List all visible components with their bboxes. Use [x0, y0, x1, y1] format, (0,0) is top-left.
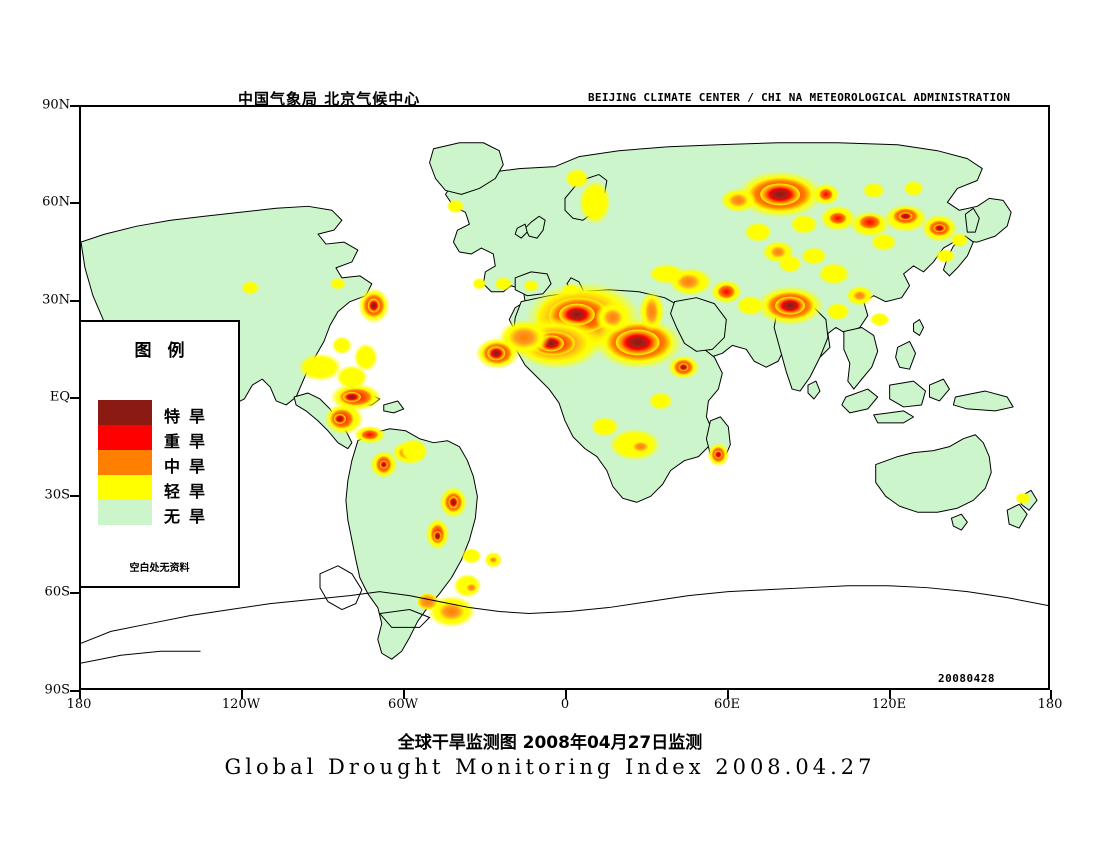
chart-title-english: Global Drought Monitoring Index 2008.04.… [0, 755, 1100, 779]
y-tick-mark-6 [70, 690, 79, 692]
drought-region-canadian-prairies [358, 288, 390, 324]
x-tick-mark-5 [889, 690, 891, 699]
legend-row-moderate: 中旱 [98, 450, 226, 475]
legend-label-light: 轻旱 [164, 478, 214, 502]
agency-header-english: BEIJING CLIMATE CENTER / CHI NA METEOROL… [588, 91, 1010, 104]
y-tick-mark-3 [70, 397, 79, 399]
y-tick-mark-2 [70, 300, 79, 302]
y-tick-label-3: EQ [50, 390, 70, 405]
legend-label-none: 无旱 [164, 503, 214, 527]
x-tick-mark-6 [1050, 690, 1052, 699]
y-tick-label-5: 60S [45, 585, 70, 600]
legend-row-severe: 重旱 [98, 425, 226, 450]
drought-region-horn-of-africa [668, 355, 700, 379]
legend-swatch-severe [98, 425, 152, 450]
legend-swatch-moderate [98, 450, 152, 475]
drought-region-nile-valley [639, 292, 665, 332]
chart-title-chinese: 全球干旱监测图 2008年04月27日监测 [0, 728, 1100, 753]
y-tick-label-0: 90N [42, 98, 70, 113]
x-tick-label-5: 120E [872, 697, 906, 712]
legend-no-data-note: 空白处无资料 [81, 559, 238, 574]
drought-region-madagascar [707, 443, 729, 467]
legend-title: 图例 [81, 336, 238, 361]
legend-label-moderate: 中旱 [164, 453, 214, 477]
y-tick-label-2: 30N [42, 293, 70, 308]
x-tick-mark-4 [727, 690, 729, 699]
x-tick-label-1: 120W [222, 697, 260, 712]
y-tick-label-4: 30S [45, 488, 70, 503]
x-tick-mark-1 [241, 690, 243, 699]
legend-row-none: 无旱 [98, 500, 226, 525]
drought-region-nw-india-pakistan [756, 286, 824, 326]
y-tick-mark-1 [70, 202, 79, 204]
x-tick-mark-3 [565, 690, 567, 699]
y-tick-mark-5 [70, 592, 79, 594]
y-tick-mark-4 [70, 495, 79, 497]
drought-region-peru-andes [426, 518, 450, 550]
y-tick-label-1: 60N [42, 195, 70, 210]
x-tick-label-6: 180 [1038, 697, 1063, 712]
legend-swatch-extreme [98, 400, 152, 425]
legend-swatch-light [98, 475, 152, 500]
drought-region-amazon-north [440, 486, 468, 518]
drought-region-west-africa [475, 337, 519, 369]
date-stamp: 20080428 [938, 672, 995, 685]
legend-swatch-none [98, 500, 152, 525]
x-tick-label-3: 0 [561, 697, 569, 712]
map-legend: 图例 特旱 重旱 中旱 轻旱 无旱 空白处无资料 [79, 320, 240, 588]
x-tick-label-0: 180 [67, 697, 92, 712]
y-tick-label-6: 90S [45, 683, 70, 698]
drought-map-page: 中国气象局 北京气候中心 BEIJING CLIMATE CENTER / CH… [0, 0, 1100, 850]
legend-label-extreme: 特旱 [164, 403, 214, 427]
legend-row-light: 轻旱 [98, 475, 226, 500]
legend-label-severe: 重旱 [164, 428, 214, 452]
x-tick-label-4: 60E [714, 697, 740, 712]
x-tick-mark-2 [403, 690, 405, 699]
x-tick-mark-0 [79, 690, 81, 699]
x-tick-label-2: 60W [388, 697, 418, 712]
legend-row-extreme: 特旱 [98, 400, 226, 425]
y-tick-mark-0 [70, 105, 79, 107]
